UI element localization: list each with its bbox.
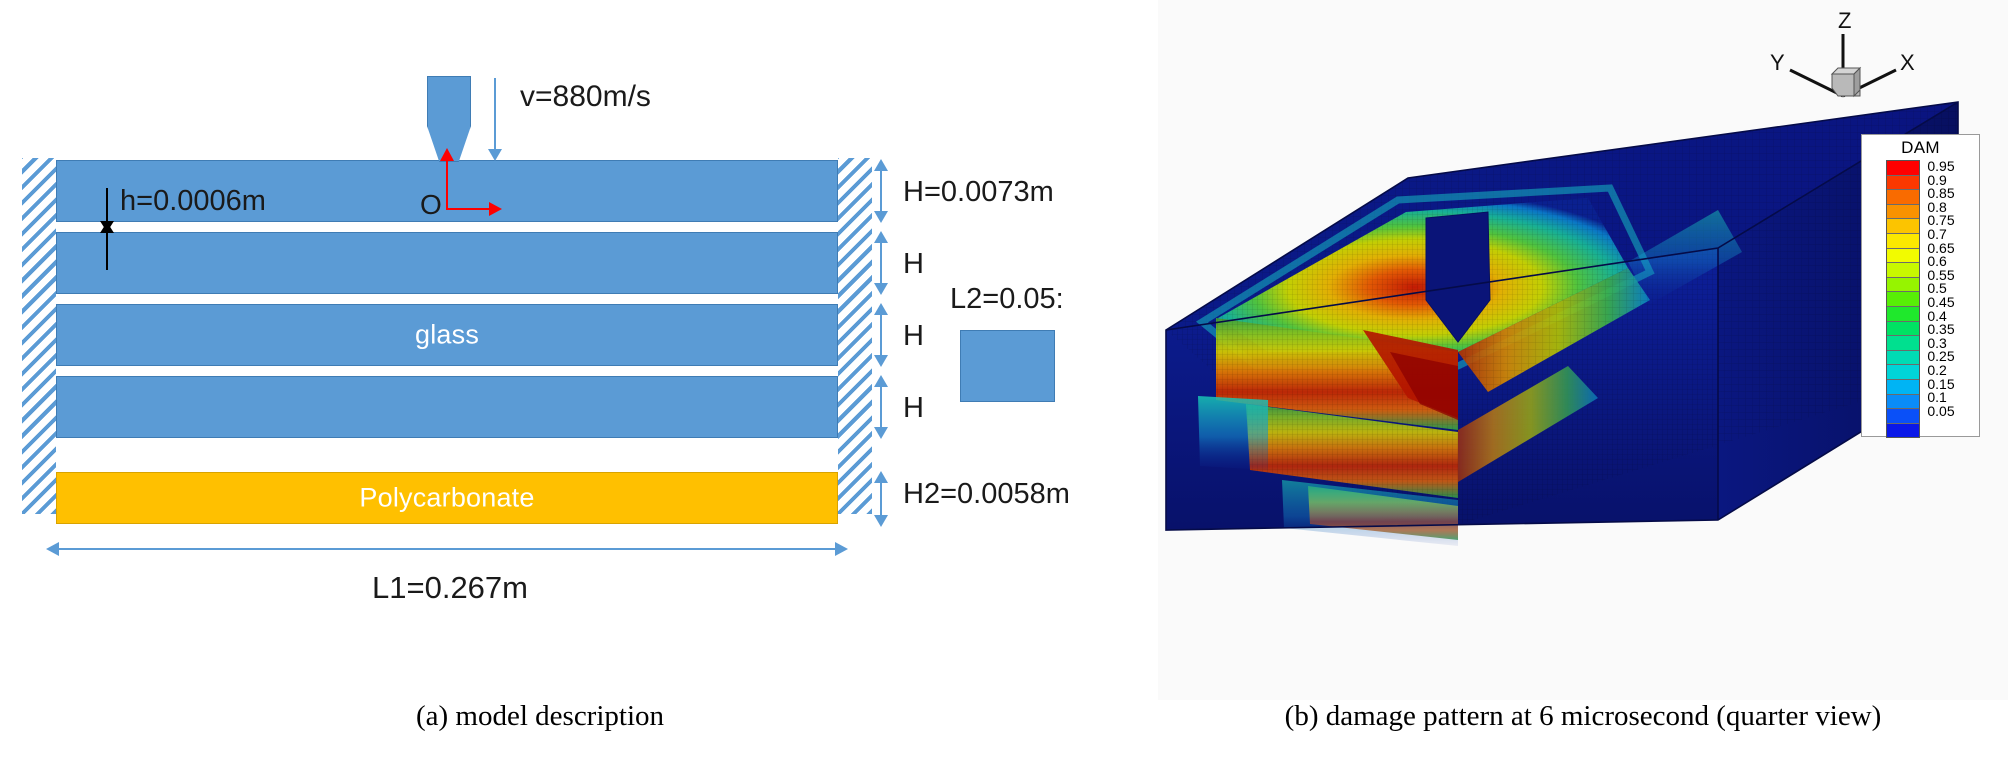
legend-swatch <box>1887 395 1919 410</box>
caption-a: (a) model description <box>0 700 1080 733</box>
legend-swatch <box>1887 292 1919 307</box>
dimension-label-h1: H=0.0073m <box>903 176 1054 209</box>
legend-swatch <box>1887 409 1919 424</box>
velocity-label: v=880m/s <box>520 80 651 114</box>
boundary-hatch-right <box>838 158 872 514</box>
legend-swatch <box>1887 190 1919 205</box>
origin-label: O <box>420 189 442 221</box>
panel-a-model-description: glass Polycarbonate v=880m/s O h=0.0006m… <box>0 0 1080 700</box>
panel-b-damage-pattern: Z Y X DAM 0.950.90.850.80.750.70.650.60.… <box>1158 0 2008 700</box>
legend-value: 0.05 <box>1927 405 1954 419</box>
axis-triad: Z Y X <box>1768 8 1918 104</box>
legend-swatch <box>1887 365 1919 380</box>
dimension-label-l1: L1=0.267m <box>0 570 900 606</box>
polycarbonate-layer: Polycarbonate <box>56 472 838 524</box>
legend-swatch <box>1887 205 1919 220</box>
origin-axis-horizontal-icon <box>446 208 490 210</box>
axis-label-z: Z <box>1838 8 1851 34</box>
damage-legend: DAM 0.950.90.850.80.750.70.650.60.550.50… <box>1861 134 1980 437</box>
legend-swatch <box>1887 336 1919 351</box>
legend-value-list: 0.950.90.850.80.750.70.650.60.550.50.450… <box>1927 160 1954 418</box>
legend-title: DAM <box>1901 138 1940 158</box>
legend-swatch <box>1887 380 1919 395</box>
legend-swatch <box>1887 234 1919 249</box>
dimension-label-h3: H <box>903 320 924 353</box>
spall-halo-left <box>1198 396 1268 470</box>
legend-swatch <box>1887 307 1919 322</box>
legend-swatch <box>1887 424 1919 438</box>
legend-swatch <box>1887 176 1919 191</box>
legend-swatch <box>1887 278 1919 293</box>
legend-swatch <box>1887 263 1919 278</box>
boundary-hatch-left <box>22 158 56 514</box>
velocity-arrow-icon <box>494 78 496 150</box>
dimension-arrow-h1 <box>880 170 882 212</box>
thin-layer-label: h=0.0006m <box>120 185 266 218</box>
l2-inset-rectangle <box>960 330 1055 402</box>
dimension-arrow-h5 <box>880 482 882 516</box>
dimension-label-h2: H <box>903 248 924 281</box>
axis-label-x: X <box>1900 50 1915 76</box>
dimension-label-h5: H2=0.0058m <box>903 478 1070 511</box>
dimension-label-l2: L2=0.05: <box>950 283 1064 316</box>
dimension-arrow-h2 <box>880 242 882 284</box>
figure-root: glass Polycarbonate v=880m/s O h=0.0006m… <box>0 0 2008 759</box>
glass-layer-4 <box>56 376 838 438</box>
legend-color-swatches <box>1886 160 1920 438</box>
legend-swatch <box>1887 322 1919 337</box>
dimension-label-h4: H <box>903 392 924 425</box>
axis-label-y: Y <box>1770 50 1785 76</box>
polycarbonate-label: Polycarbonate <box>57 485 837 512</box>
glass-label: glass <box>57 322 837 349</box>
origin-axis-vertical-icon <box>446 160 448 210</box>
legend-swatch <box>1887 161 1919 176</box>
legend-body: 0.950.90.850.80.750.70.650.60.550.50.450… <box>1886 160 1954 438</box>
caption-b: (b) damage pattern at 6 microsecond (qua… <box>1158 700 2008 733</box>
glass-layer-3: glass <box>56 304 838 366</box>
dimension-arrow-h4 <box>880 386 882 428</box>
legend-swatch <box>1887 219 1919 234</box>
thin-layer-arrow-down-icon <box>106 188 108 222</box>
thin-layer-arrow-up-icon <box>106 232 108 270</box>
dimension-arrow-l1-icon <box>58 548 836 550</box>
legend-swatch <box>1887 249 1919 264</box>
glass-layer-2 <box>56 232 838 294</box>
legend-swatch <box>1887 351 1919 366</box>
dimension-arrow-h3 <box>880 314 882 356</box>
